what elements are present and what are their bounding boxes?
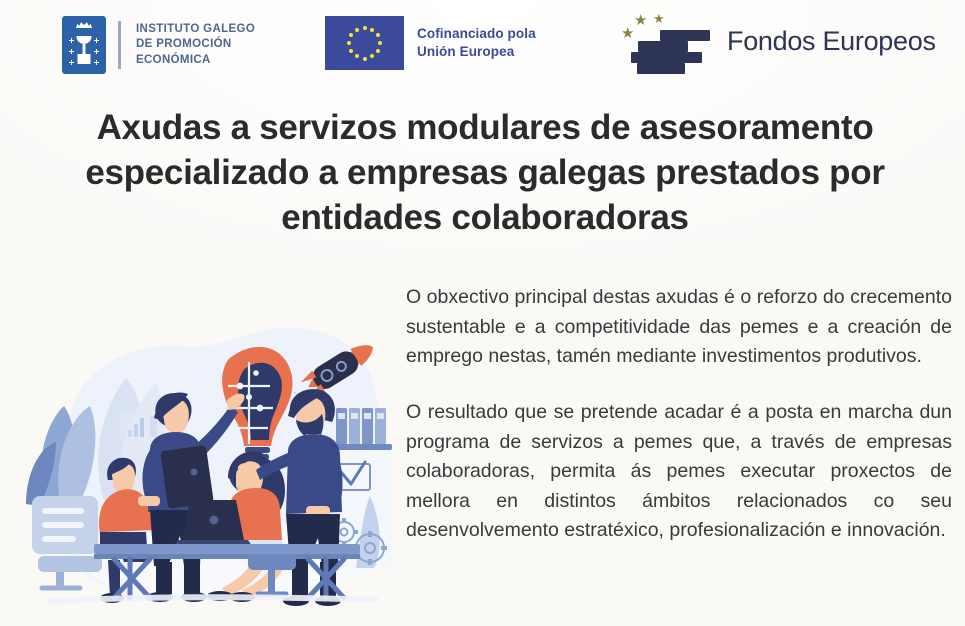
laptop-held	[160, 445, 214, 509]
eu-star-icon	[376, 33, 380, 37]
star-icon: ★	[653, 12, 665, 25]
fondos-europeos-mark-icon: ★ ★ ★	[617, 8, 713, 74]
eu-star-icon	[363, 57, 367, 61]
cross-icon	[94, 49, 99, 54]
logo-bar: INSTITUTO GALEGO DE PROMOCIÓN ECONÓMICA …	[0, 0, 965, 92]
logo-union-europea: Cofinanciado pola Unión Europea	[325, 16, 536, 70]
body-text-column: O obxectivo principal destas axudas é o …	[406, 283, 952, 546]
european-union-flag-icon	[325, 16, 404, 70]
fondos-europeos-label: Fondos Europeos	[727, 26, 936, 57]
paragraph-result: O resultado que se pretende acadar é a p…	[406, 398, 952, 546]
eu-star-icon	[349, 49, 353, 53]
eu-star-icon	[378, 41, 382, 45]
page-title: Axudas a servizos modulares de asesorame…	[40, 105, 930, 240]
logo-instituto-galego-promocion-economica: INSTITUTO GALEGO DE PROMOCIÓN ECONÓMICA	[62, 16, 255, 74]
eu-star-icon	[370, 28, 374, 32]
eu-star-icon	[355, 54, 359, 58]
cross-icon	[94, 38, 99, 43]
cross-icon	[69, 38, 74, 43]
illustration-svg	[8, 300, 400, 620]
eu-star-icon	[376, 49, 380, 53]
cross-icon	[94, 60, 99, 65]
paragraph-objective: O obxectivo principal destas axudas é o …	[406, 283, 952, 372]
eu-star-icon	[363, 26, 367, 30]
eu-star-icon	[347, 41, 351, 45]
logo-fondos-europeos: ★ ★ ★ Fondos Europeos	[617, 8, 936, 74]
eu-star-icon	[355, 28, 359, 32]
cross-icon	[69, 49, 74, 54]
team-collaboration-illustration	[8, 300, 400, 620]
xunta-de-galicia-coat-of-arms-icon	[62, 16, 106, 74]
cofinanciado-label: Cofinanciado pola Unión Europea	[417, 25, 536, 61]
star-icon: ★	[621, 26, 634, 41]
eu-star-icon	[349, 33, 353, 37]
eu-star-icon	[370, 54, 374, 58]
chalice-icon	[77, 36, 92, 60]
crown-icon	[76, 21, 92, 28]
cross-icon	[69, 60, 74, 65]
star-icon: ★	[634, 13, 647, 28]
logo-divider	[118, 21, 121, 69]
instituto-galego-label: INSTITUTO GALEGO DE PROMOCIÓN ECONÓMICA	[136, 22, 255, 68]
